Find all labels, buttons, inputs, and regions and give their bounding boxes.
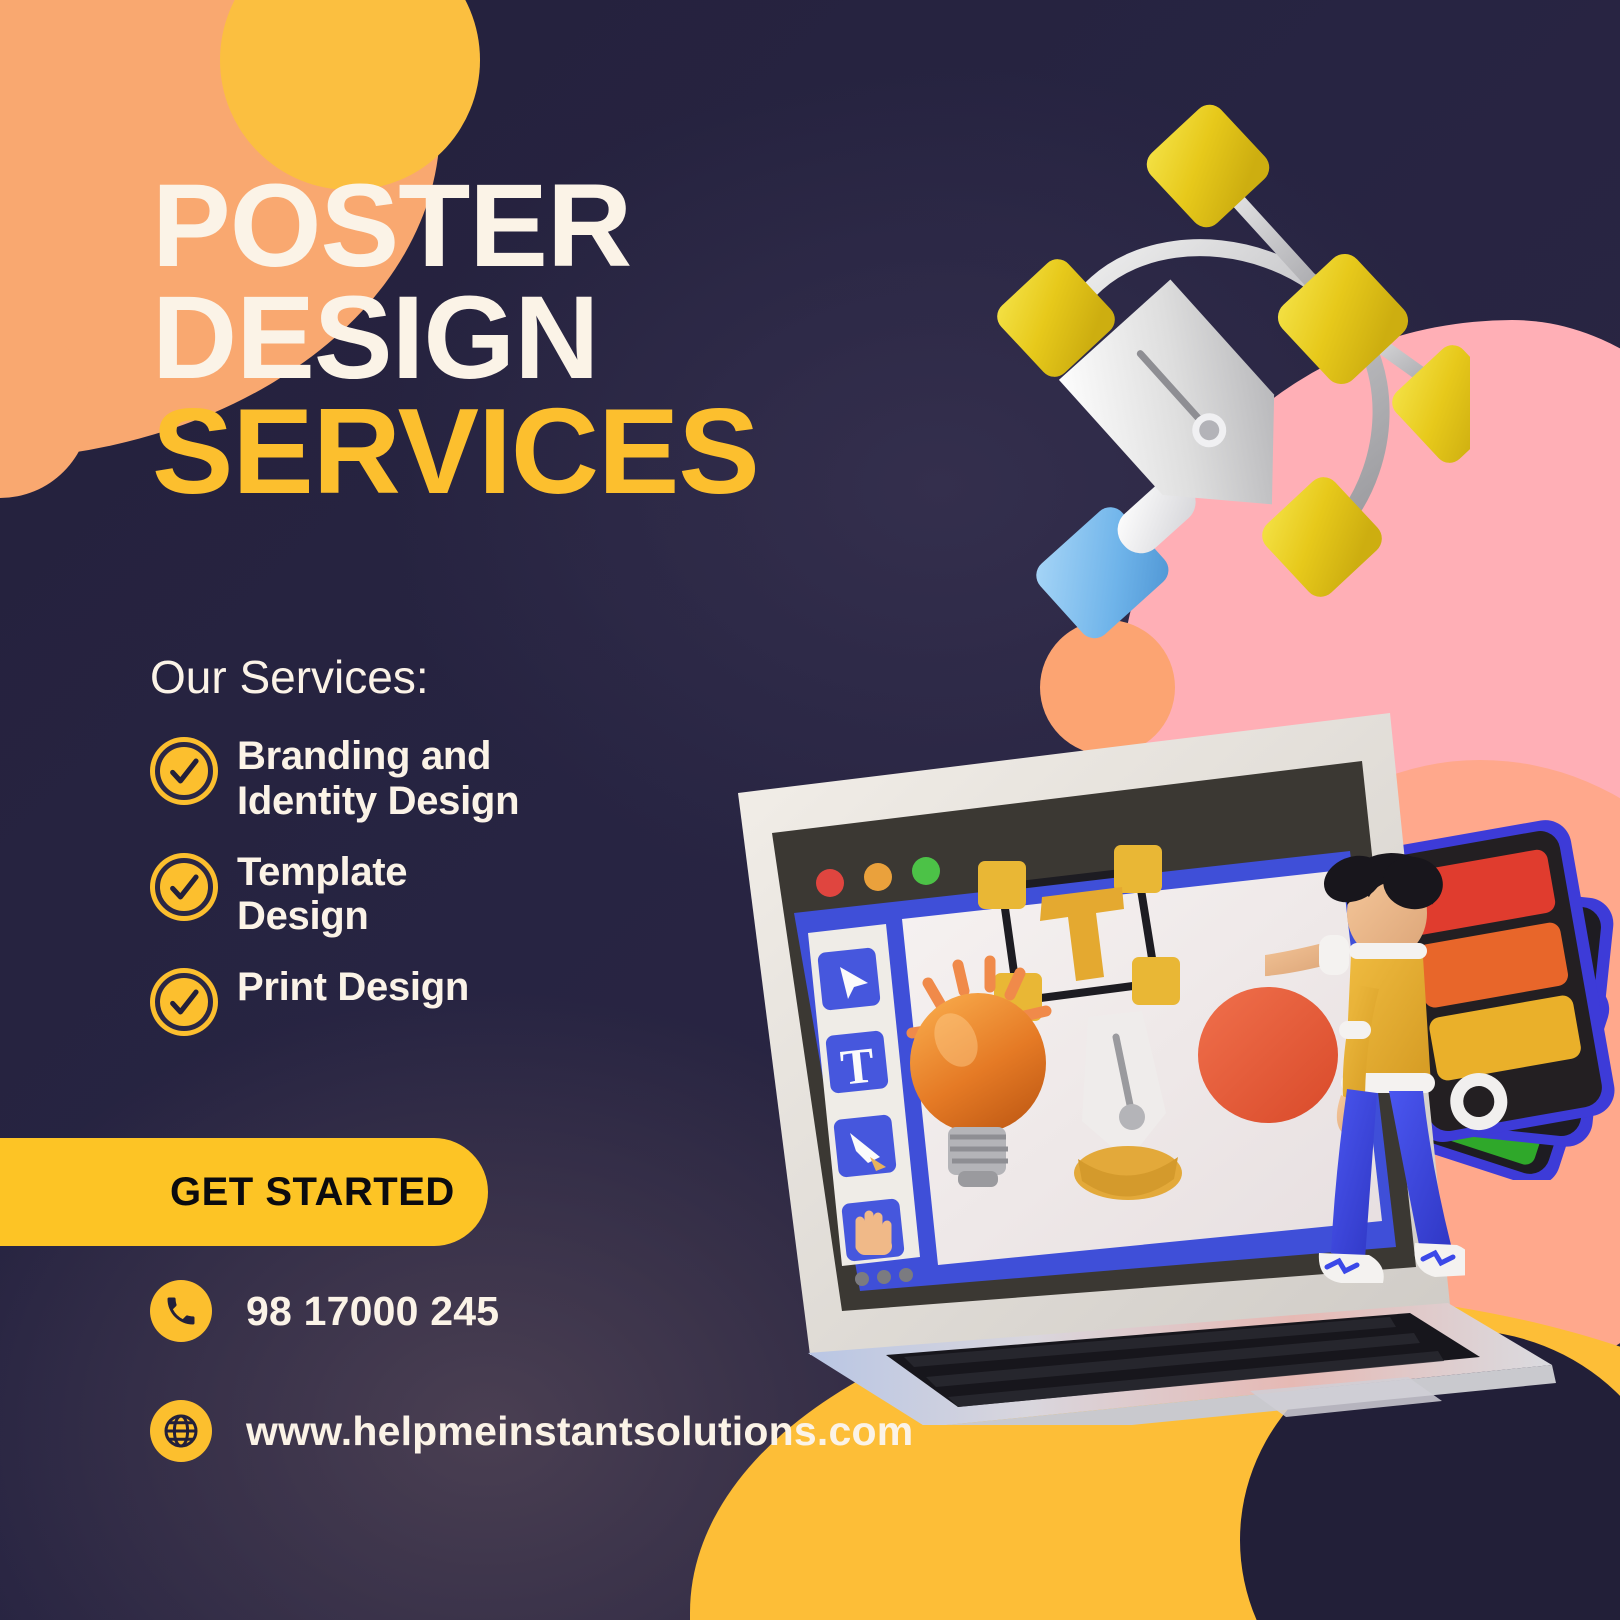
services-label: Our Services:: [150, 650, 770, 704]
svg-text:T: T: [838, 1036, 877, 1095]
globe-icon: [150, 1400, 212, 1462]
selection-node-tr: [1114, 845, 1162, 893]
phone-number: 98 17000 245: [246, 1288, 499, 1335]
toolbar-button-pen[interactable]: [833, 1114, 897, 1178]
character-shoe-front: [1414, 1243, 1465, 1277]
character-collar: [1349, 943, 1427, 959]
service-item-print: Print Design: [150, 965, 770, 1031]
check-circle-icon: [155, 858, 213, 916]
page-title: POSTER DESIGN SERVICES: [152, 170, 759, 510]
poster-canvas: T: [0, 0, 1620, 1620]
check-circle-icon: [155, 973, 213, 1031]
toolbar-button-text[interactable]: T: [825, 1030, 889, 1095]
toolbar-button-cursor[interactable]: [817, 947, 881, 1011]
headline-line-1: POSTER: [152, 170, 759, 282]
selection-node-tl: [978, 861, 1026, 909]
character-illustration: [1265, 835, 1465, 1335]
service-label: Template Design: [237, 850, 407, 940]
service-label: Print Design: [237, 965, 469, 1010]
pen-tool-illustration: [950, 100, 1470, 640]
window-dot-maximize[interactable]: [912, 857, 940, 885]
character-leg-front: [1389, 1091, 1451, 1255]
toolbar-button-hand[interactable]: [841, 1198, 905, 1262]
service-item-branding: Branding and Identity Design: [150, 734, 770, 824]
window-dot-close[interactable]: [816, 869, 844, 897]
service-item-template: Template Design: [150, 850, 770, 940]
character-shoe-back: [1319, 1253, 1384, 1283]
character-arm-pointing: [1265, 943, 1327, 977]
phone-icon: [150, 1280, 212, 1342]
headline-line-3: SERVICES: [152, 394, 759, 510]
window-dot-minimize[interactable]: [864, 863, 892, 891]
headline-line-2: DESIGN: [152, 282, 759, 394]
selection-node-br: [1132, 957, 1180, 1005]
service-label: Branding and Identity Design: [237, 734, 519, 824]
get-started-button[interactable]: GET STARTED: [0, 1138, 488, 1246]
character-cuff: [1319, 935, 1349, 975]
services-section: Our Services: Branding and Identity Desi…: [150, 650, 770, 1057]
contact-phone-row[interactable]: 98 17000 245: [150, 1280, 913, 1342]
website-url: www.helpmeinstantsolutions.com: [246, 1408, 913, 1455]
contact-website-row[interactable]: www.helpmeinstantsolutions.com: [150, 1400, 913, 1462]
get-started-label: GET STARTED: [170, 1170, 455, 1215]
contact-section: 98 17000 245 www.helpmeinstantsolutions.…: [150, 1280, 913, 1520]
check-circle-icon: [155, 742, 213, 800]
